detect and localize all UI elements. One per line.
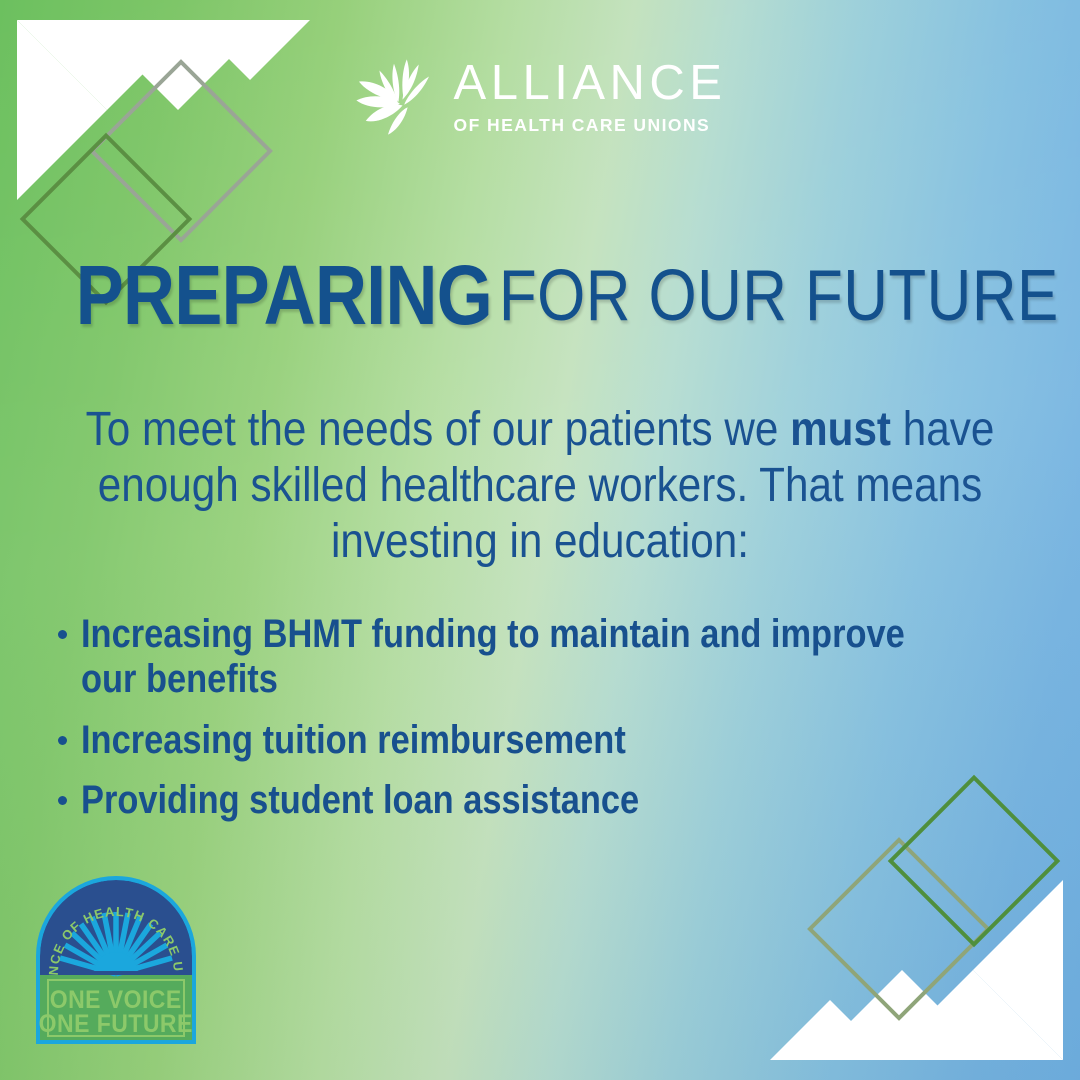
badge-line-2: ONE FUTURE xyxy=(39,1010,193,1038)
one-voice-one-future-badge: ALLIANCE OF HEALTH CARE UNIONS ONE VOICE… xyxy=(32,868,200,1048)
bullet-dot-icon xyxy=(58,796,67,805)
bullet-dot-icon xyxy=(58,736,67,745)
logo-wordmark: ALLIANCE OF HEALTH CARE UNIONS xyxy=(454,59,727,135)
bullet-dot-icon xyxy=(58,630,67,639)
list-item-label: Providing student loan assistance xyxy=(81,778,639,823)
list-item: Increasing tuition reimbursement xyxy=(58,718,1080,763)
list-item-label: Increasing tuition reimbursement xyxy=(81,718,626,763)
intro-paragraph: To meet the needs of our patients we mus… xyxy=(43,402,1037,570)
headline-strong: PREPARING xyxy=(76,248,492,342)
paragraph-emphasis: must xyxy=(790,403,891,456)
paragraph-part-1: To meet the needs of our patients we xyxy=(86,403,790,456)
list-item: Increasing BHMT funding to maintain and … xyxy=(58,612,1080,702)
alliance-flower-mark xyxy=(354,56,440,138)
page-title: PREPARINGFOR OUR FUTURE xyxy=(76,247,1005,344)
bullet-list: Increasing BHMT funding to maintain and … xyxy=(58,612,1080,839)
headline-light: FOR OUR FUTURE xyxy=(499,256,1059,336)
logo-subtitle: OF HEALTH CARE UNIONS xyxy=(454,117,727,135)
list-item-label: Increasing BHMT funding to maintain and … xyxy=(81,612,940,702)
logo-title: ALLIANCE xyxy=(454,59,727,108)
poster-canvas: ALLIANCE OF HEALTH CARE UNIONS PREPARING… xyxy=(0,0,1080,1080)
alliance-logo: ALLIANCE OF HEALTH CARE UNIONS xyxy=(354,56,727,138)
list-item: Providing student loan assistance xyxy=(58,778,1080,823)
